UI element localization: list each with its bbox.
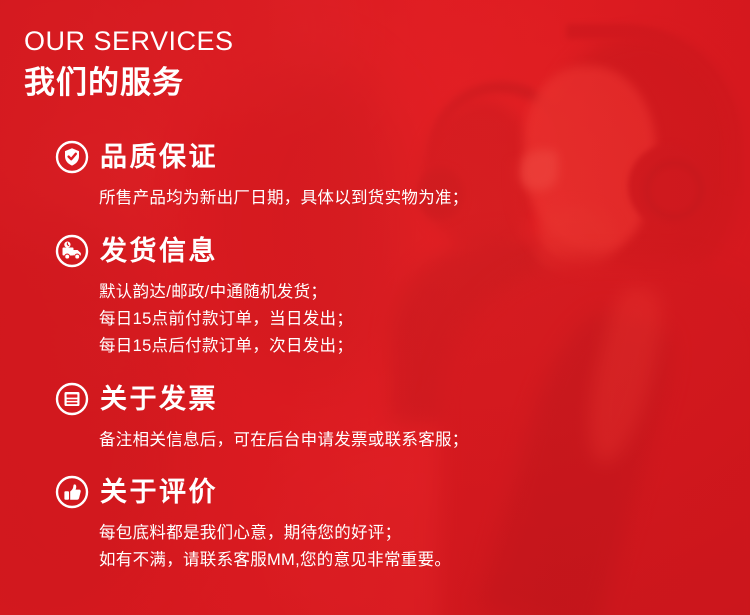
- service-item-invoice: 关于发票 备注相关信息后，可在后台申请发票或联系客服；: [55, 378, 695, 454]
- service-item-line: 所售产品均为新出厂日期，具体以到货实物为准；: [99, 185, 695, 212]
- service-item-review: 关于评价 每包底料都是我们心意，期待您的好评； 如有不满，请联系客服MM,您的意…: [55, 471, 695, 574]
- service-item-shipping: 发货信息 默认韵达/邮政/中通随机发货； 每日15点前付款订单，当日发出； 每日…: [55, 230, 695, 360]
- service-item-body: 默认韵达/邮政/中通随机发货； 每日15点前付款订单，当日发出； 每日15点后付…: [99, 279, 695, 360]
- service-item-body: 每包底料都是我们心意，期待您的好评； 如有不满，请联系客服MM,您的意见非常重要…: [99, 520, 695, 574]
- service-item-header: 品质保证: [55, 136, 695, 178]
- service-item-body: 所售产品均为新出厂日期，具体以到货实物为准；: [99, 185, 695, 212]
- banner-heading: OUR SERVICES 我们的服务: [24, 26, 234, 103]
- service-item-quality: 品质保证 所售产品均为新出厂日期，具体以到货实物为准；: [55, 136, 695, 212]
- delivery-truck-circle-icon: [55, 234, 89, 268]
- service-item-header: 关于评价: [55, 471, 695, 513]
- service-items-list: 品质保证 所售产品均为新出厂日期，具体以到货实物为准；: [55, 136, 695, 574]
- service-item-line: 默认韵达/邮政/中通随机发货；: [99, 279, 695, 306]
- service-item-line: 如有不满，请联系客服MM,您的意见非常重要。: [99, 547, 695, 574]
- service-item-header: 发货信息: [55, 230, 695, 272]
- service-item-line: 备注相关信息后，可在后台申请发票或联系客服；: [99, 427, 695, 454]
- thumbs-up-circle-icon: [55, 475, 89, 509]
- service-item-header: 关于发票: [55, 378, 695, 420]
- service-item-title: 关于评价: [100, 479, 218, 506]
- service-item-line: 每日15点前付款订单，当日发出；: [99, 306, 695, 333]
- service-item-line: 每日15点后付款订单，次日发出；: [99, 333, 695, 360]
- service-item-body: 备注相关信息后，可在后台申请发票或联系客服；: [99, 427, 695, 454]
- our-services-banner: OUR SERVICES 我们的服务 品质保证 所售产品: [0, 0, 750, 615]
- heading-title-cn: 我们的服务: [24, 63, 234, 103]
- shield-check-circle-icon: [55, 140, 89, 174]
- service-item-line: 每包底料都是我们心意，期待您的好评；: [99, 520, 695, 547]
- invoice-circle-icon: [55, 382, 89, 416]
- service-item-title: 品质保证: [100, 144, 218, 171]
- service-item-title: 发货信息: [100, 238, 218, 265]
- heading-title-en: OUR SERVICES: [24, 26, 234, 58]
- service-item-title: 关于发票: [100, 386, 218, 413]
- banner-content: OUR SERVICES 我们的服务 品质保证 所售产品: [0, 0, 750, 615]
